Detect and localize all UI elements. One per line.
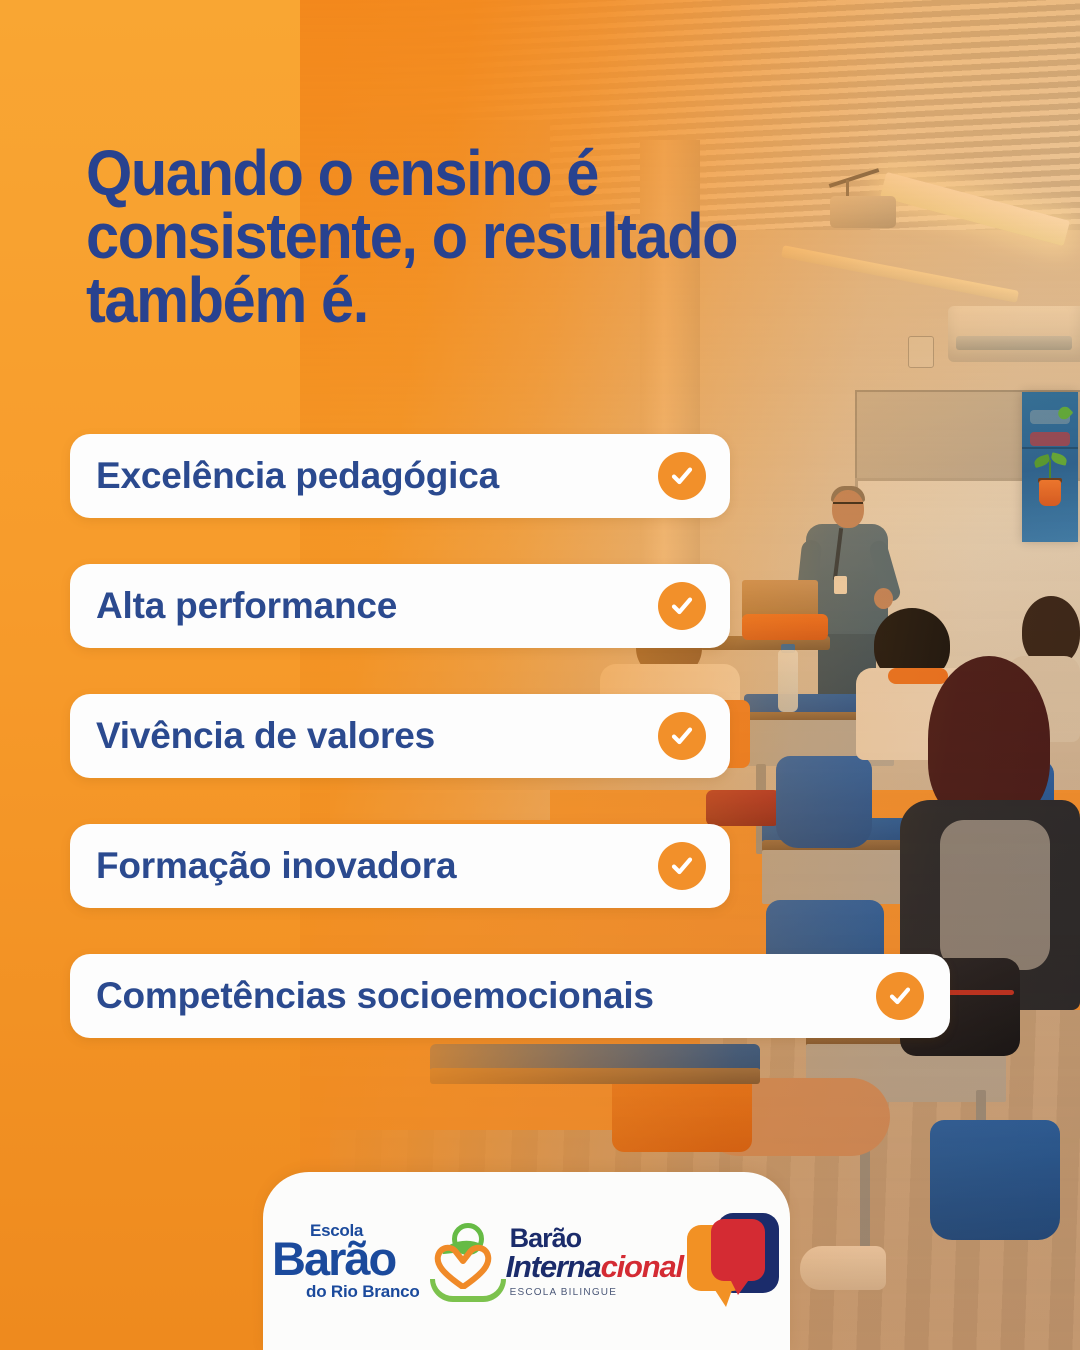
list-item-label: Excelência pedagógica	[96, 455, 499, 497]
logo-internacional-word: Internacional	[506, 1251, 683, 1282]
check-circle-icon	[658, 452, 706, 500]
list-item[interactable]: Formação inovadora	[70, 824, 730, 908]
logo-barao-word: Barão	[272, 1235, 395, 1282]
logo-barao-internacional: Barão Internacional ESCOLA BILINGUE	[506, 1209, 781, 1313]
check-circle-icon	[658, 842, 706, 890]
logo-cional-segment: cional	[601, 1249, 683, 1284]
benefits-list: Excelência pedagógica Alta performance V…	[70, 434, 950, 1084]
page-title: Quando o ensino é consistente, o resulta…	[86, 142, 793, 332]
list-item[interactable]: Excelência pedagógica	[70, 434, 730, 518]
check-circle-icon	[876, 972, 924, 1020]
list-item-label: Vivência de valores	[96, 715, 435, 757]
logo-interna-segment: Interna	[506, 1249, 601, 1284]
logo-rio-branco-word: do Rio Branco	[306, 1283, 420, 1300]
logo-barao-word-2: Barão	[510, 1225, 582, 1252]
speech-bubbles-icon	[685, 1209, 781, 1313]
logo-subtitle: ESCOLA BILINGUE	[510, 1288, 617, 1298]
social-post-canvas: Quando o ensino é consistente, o resulta…	[0, 0, 1080, 1350]
list-item[interactable]: Vivência de valores	[70, 694, 730, 778]
heart-sprout-hand-icon	[426, 1223, 500, 1299]
check-circle-icon	[658, 582, 706, 630]
list-item-label: Alta performance	[96, 585, 397, 627]
list-item-label: Formação inovadora	[96, 845, 456, 887]
list-item[interactable]: Alta performance	[70, 564, 730, 648]
logo-escola-barao: Escola Barão do Rio Branco	[272, 1222, 500, 1300]
list-item[interactable]: Competências socioemocionais	[70, 954, 950, 1038]
logo-bar: Escola Barão do Rio Branco Barão Interna…	[263, 1172, 790, 1350]
list-item-label: Competências socioemocionais	[96, 975, 654, 1017]
check-circle-icon	[658, 712, 706, 760]
